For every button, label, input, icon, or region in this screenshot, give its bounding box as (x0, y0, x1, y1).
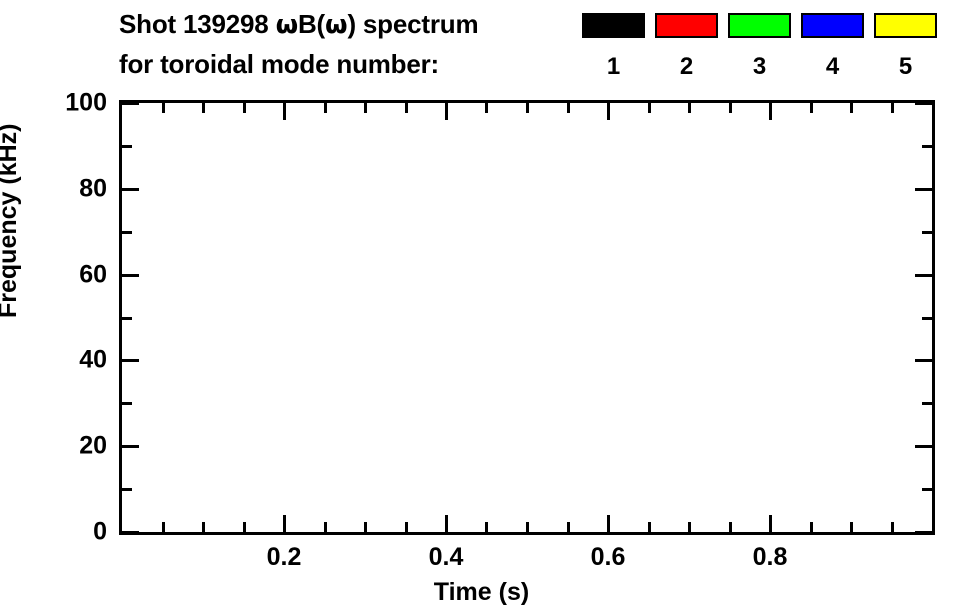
legend-swatch-3 (728, 13, 791, 38)
x-minor-tick (688, 522, 691, 532)
x-axis-title: Time (s) (0, 578, 963, 607)
y-tick-label: 100 (27, 89, 107, 118)
x-minor-tick (729, 522, 732, 532)
legend-swatch-2 (655, 13, 718, 38)
y-axis-title: Frequency (kHz) (0, 124, 23, 318)
x-major-tick (283, 103, 286, 120)
x-minor-tick (891, 522, 894, 532)
y-major-tick (915, 188, 932, 191)
x-minor-tick (526, 522, 529, 532)
x-minor-tick (364, 103, 367, 113)
y-minor-tick (122, 402, 132, 405)
title-prefix: Shot 139298 (119, 9, 276, 39)
x-tick-label: 0.4 (401, 543, 491, 572)
x-minor-tick (162, 103, 165, 113)
y-tick-label: 60 (27, 261, 107, 290)
x-minor-tick (891, 103, 894, 113)
y-minor-tick (122, 145, 132, 148)
title-suffix: ) spectrum (347, 9, 478, 39)
y-major-tick (122, 274, 139, 277)
x-major-tick (607, 515, 610, 532)
omega-glyph-1: ω (276, 10, 298, 40)
y-minor-tick (922, 145, 932, 148)
x-minor-tick (364, 522, 367, 532)
x-minor-tick (688, 103, 691, 113)
legend-label-5: 5 (874, 53, 937, 81)
plot-frame (119, 100, 935, 535)
x-minor-tick (324, 103, 327, 113)
x-minor-tick (810, 103, 813, 113)
y-major-tick (122, 359, 139, 362)
x-minor-tick (243, 103, 246, 113)
y-tick-label: 0 (27, 518, 107, 547)
y-minor-tick (922, 317, 932, 320)
y-minor-tick (122, 488, 132, 491)
y-major-tick (122, 102, 139, 105)
legend-label-2: 2 (655, 53, 718, 81)
y-major-tick (915, 359, 932, 362)
title-mid: B( (298, 9, 325, 39)
x-minor-tick (243, 522, 246, 532)
x-minor-tick (648, 103, 651, 113)
y-major-tick (915, 445, 932, 448)
figure-root: Shot 139298 ωB(ω) spectrum for toroidal … (0, 0, 963, 615)
x-minor-tick (485, 522, 488, 532)
y-major-tick (122, 445, 139, 448)
legend-swatch-1 (582, 13, 645, 38)
y-minor-tick (122, 231, 132, 234)
omega-glyph-2: ω (325, 10, 347, 40)
x-tick-label: 0.6 (563, 543, 653, 572)
y-tick-label: 20 (27, 432, 107, 461)
y-minor-tick (922, 488, 932, 491)
x-minor-tick (202, 522, 205, 532)
y-minor-tick (922, 231, 932, 234)
x-tick-label: 0.2 (239, 543, 329, 572)
x-minor-tick (202, 103, 205, 113)
y-tick-label: 40 (27, 346, 107, 375)
legend-swatch-5 (874, 13, 937, 38)
x-minor-tick (324, 522, 327, 532)
y-tick-label: 80 (27, 175, 107, 204)
x-minor-tick (162, 522, 165, 532)
x-minor-tick (567, 103, 570, 113)
y-major-tick (122, 188, 139, 191)
x-minor-tick (850, 522, 853, 532)
x-minor-tick (405, 103, 408, 113)
legend-label-3: 3 (728, 53, 791, 81)
x-major-tick (607, 103, 610, 120)
y-minor-tick (122, 317, 132, 320)
legend-swatch-4 (801, 13, 864, 38)
figure-title-line-1: Shot 139298 ωB(ω) spectrum (119, 9, 478, 40)
y-minor-tick (922, 402, 932, 405)
legend-label-4: 4 (801, 53, 864, 81)
x-minor-tick (526, 103, 529, 113)
x-major-tick (283, 515, 286, 532)
x-minor-tick (850, 103, 853, 113)
x-tick-label: 0.8 (725, 543, 815, 572)
x-major-tick (769, 515, 772, 532)
y-major-tick (122, 531, 139, 534)
x-major-tick (769, 103, 772, 120)
y-major-tick (915, 102, 932, 105)
legend-label-1: 1 (582, 53, 645, 81)
figure-title-line-2: for toroidal mode number: (119, 49, 439, 80)
x-minor-tick (567, 522, 570, 532)
x-major-tick (445, 103, 448, 120)
x-minor-tick (405, 522, 408, 532)
y-major-tick (915, 274, 932, 277)
y-major-tick (915, 531, 932, 534)
x-minor-tick (485, 103, 488, 113)
x-minor-tick (729, 103, 732, 113)
x-minor-tick (648, 522, 651, 532)
x-major-tick (445, 515, 448, 532)
x-minor-tick (810, 522, 813, 532)
